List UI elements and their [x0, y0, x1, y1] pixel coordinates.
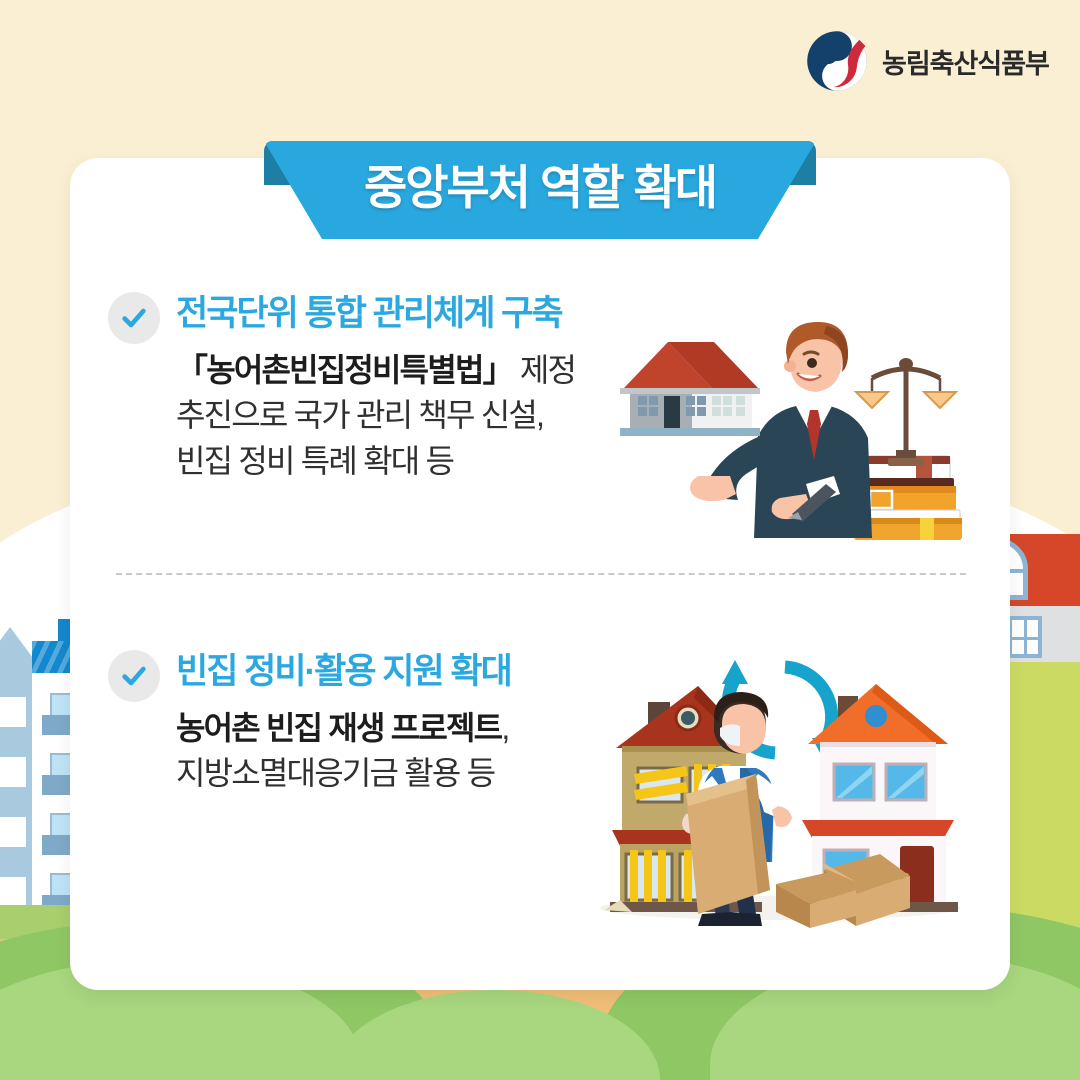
- infographic-card: 농림축산식품부 중앙부처 역할 확대 전국단위 통합 관리체계 구축 「농어촌빈…: [0, 0, 1080, 1080]
- section-2-project-name: 농어촌 빈집 재생 프로젝트: [176, 710, 501, 746]
- ministry-name: 농림축산식품부: [882, 42, 1049, 81]
- section-2-title: 빈집 정비·활용 지원 확대: [176, 648, 511, 695]
- section-1-title: 전국단위 통합 관리체계 구축: [176, 290, 562, 337]
- official-holding-house-illustration: [620, 308, 970, 548]
- check-mark-glyph: [120, 304, 148, 332]
- ministry-logo: 농림축산식품부: [806, 30, 1049, 92]
- section-divider: [116, 573, 966, 575]
- section-2-line1-rest: ,: [501, 710, 508, 746]
- korea-government-taegeuk-emblem-icon: [806, 30, 868, 92]
- house-renovation-illustration: [580, 640, 980, 930]
- check-mark-glyph: [120, 662, 148, 690]
- section-1-law-name: 「농어촌빈집정비특별법」: [176, 352, 513, 388]
- check-mark-icon: [108, 292, 160, 344]
- banner-title: 중앙부처 역할 확대: [264, 141, 816, 225]
- banner-ribbon: 중앙부처 역할 확대: [264, 141, 816, 239]
- check-mark-icon: [108, 650, 160, 702]
- section-1-line1-rest: 제정: [513, 352, 575, 388]
